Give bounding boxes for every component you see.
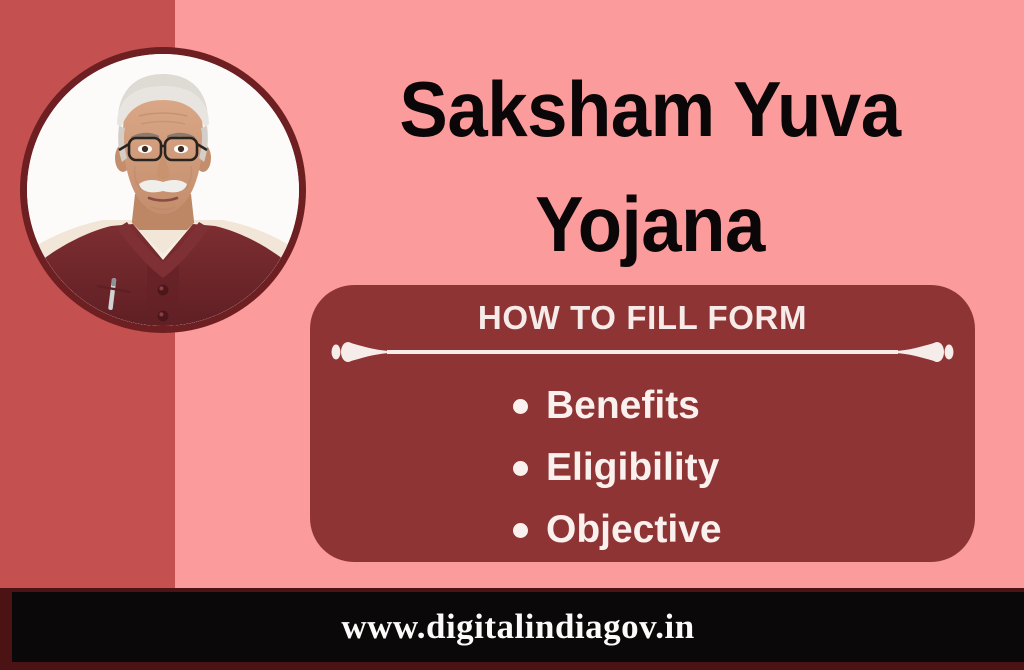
list-item[interactable]: Objective: [310, 499, 975, 561]
jacket-button: [158, 311, 169, 322]
jacket-button: [158, 285, 169, 296]
official-portrait-avatar: [20, 47, 306, 333]
list-item-label: Eligibility: [546, 446, 719, 489]
eye-right-pupil: [178, 146, 184, 152]
eye-left-pupil: [142, 146, 148, 152]
list-item[interactable]: Eligibility: [310, 437, 975, 499]
poster-title: Saksham Yuva Yojana: [334, 52, 966, 283]
list-item[interactable]: Benefits: [310, 375, 975, 437]
card-bullet-list: Benefits Eligibility Objective: [310, 375, 975, 561]
jacket-button-highlight: [159, 286, 163, 290]
footer-frame: www.digitalindiagov.in: [0, 588, 1024, 670]
dumbbell-divider-ornament: [331, 339, 954, 365]
bullet-dot-icon: [513, 523, 528, 538]
website-url[interactable]: www.digitalindiagov.in: [341, 607, 694, 647]
list-item-label: Objective: [546, 508, 722, 551]
list-item-label: Benefits: [546, 384, 700, 427]
avatar-clip: [27, 54, 299, 326]
bullet-dot-icon: [513, 461, 528, 476]
jacket-button-highlight: [159, 312, 163, 316]
dumbbell-divider-icon: [331, 339, 954, 365]
card-heading: HOW TO FILL FORM: [310, 299, 975, 337]
footer-bar: www.digitalindiagov.in: [12, 592, 1024, 662]
official-portrait-illustration: [27, 54, 299, 326]
poster-title-line-2: Yojana: [334, 167, 966, 282]
bullet-dot-icon: [513, 399, 528, 414]
how-to-fill-form-card: HOW TO FILL FORM Be: [310, 285, 975, 562]
poster-title-line-1: Saksham Yuva: [334, 52, 966, 167]
poster-canvas: Saksham Yuva Yojana HOW TO FILL FORM: [0, 0, 1024, 670]
